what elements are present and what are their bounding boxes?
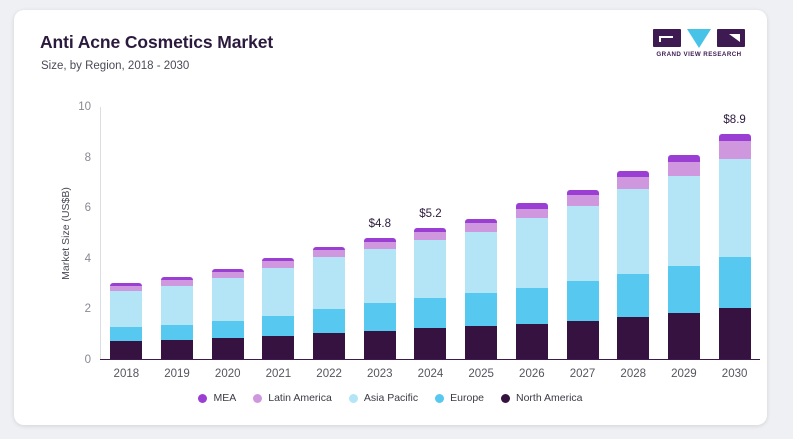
bar-segment[interactable]	[668, 162, 700, 176]
bar-group[interactable]: 2028	[615, 107, 651, 359]
bar-segment[interactable]	[516, 324, 548, 359]
bar-group[interactable]: 2021	[260, 107, 296, 359]
x-axis-tick: 2026	[519, 368, 545, 380]
bar-segment[interactable]	[668, 266, 700, 314]
x-axis-tick: 2029	[671, 368, 697, 380]
bar-segment[interactable]	[668, 313, 700, 359]
bar-group[interactable]: $8.92030	[717, 107, 753, 359]
bar-segment[interactable]	[516, 209, 548, 219]
stacked-bar[interactable]	[465, 219, 497, 359]
y-axis-tick: 10	[78, 101, 91, 113]
bar-value-label: $5.2	[419, 208, 441, 220]
bar-segment[interactable]	[313, 333, 345, 359]
legend-swatch-icon	[253, 394, 262, 403]
bar-segment[interactable]	[262, 268, 294, 316]
bar-segment[interactable]	[161, 286, 193, 325]
bar-segment[interactable]	[567, 321, 599, 359]
bar-segment[interactable]	[110, 327, 142, 341]
bar-segment[interactable]	[719, 159, 751, 256]
legend-item[interactable]: North America	[501, 392, 583, 404]
bar-segment[interactable]	[617, 177, 649, 189]
stacked-bar[interactable]	[719, 134, 751, 359]
legend-label: MEA	[213, 392, 236, 404]
page-title: Anti Acne Cosmetics Market	[40, 32, 273, 53]
bar-segment[interactable]	[617, 189, 649, 274]
legend-swatch-icon	[349, 394, 358, 403]
bar-group[interactable]: 2025	[463, 107, 499, 359]
stacked-bar[interactable]	[364, 238, 396, 359]
bar-segment[interactable]	[313, 257, 345, 309]
bar-series-container: 20182019202020212022$4.82023$5.220242025…	[101, 107, 760, 359]
legend-item[interactable]: Europe	[435, 392, 484, 404]
bar-segment[interactable]	[414, 240, 446, 299]
x-axis-tick: 2020	[215, 368, 241, 380]
bar-segment[interactable]	[567, 206, 599, 281]
legend-swatch-icon	[501, 394, 510, 403]
x-axis-tick: 2027	[570, 368, 596, 380]
legend-label: North America	[516, 392, 583, 404]
bar-segment[interactable]	[212, 278, 244, 321]
bar-segment[interactable]	[465, 232, 497, 293]
x-axis-line	[100, 359, 760, 360]
bar-group[interactable]: 2020	[210, 107, 246, 359]
stacked-bar[interactable]	[516, 203, 548, 359]
bar-group[interactable]: $5.22024	[412, 107, 448, 359]
bar-segment[interactable]	[364, 331, 396, 359]
stacked-bar[interactable]	[212, 269, 244, 359]
bar-segment[interactable]	[364, 303, 396, 330]
x-axis-tick: 2019	[164, 368, 190, 380]
bar-segment[interactable]	[110, 291, 142, 328]
logo-g-icon	[653, 29, 681, 47]
bar-segment[interactable]	[414, 328, 446, 359]
legend-item[interactable]: Asia Pacific	[349, 392, 418, 404]
legend-swatch-icon	[435, 394, 444, 403]
bar-segment[interactable]	[516, 288, 548, 324]
bar-segment[interactable]	[668, 176, 700, 266]
bar-segment[interactable]	[161, 340, 193, 359]
x-axis-tick: 2025	[468, 368, 494, 380]
x-axis-tick: 2023	[367, 368, 393, 380]
legend-label: Asia Pacific	[364, 392, 418, 404]
stacked-bar[interactable]	[567, 190, 599, 359]
logo-r-icon	[717, 29, 745, 47]
card-header: Anti Acne Cosmetics Market Size, by Regi…	[14, 10, 767, 82]
logo-wordmark: GRAND VIEW RESEARCH	[653, 51, 745, 58]
y-axis-tick: 8	[85, 152, 91, 164]
bar-segment[interactable]	[364, 242, 396, 249]
bar-group[interactable]: 2018	[108, 107, 144, 359]
x-axis-tick: 2022	[316, 368, 342, 380]
bar-segment[interactable]	[110, 341, 142, 359]
bar-segment[interactable]	[212, 321, 244, 338]
x-axis-tick: 2024	[418, 368, 444, 380]
stacked-bar[interactable]	[414, 228, 446, 359]
stacked-bar[interactable]	[313, 247, 345, 359]
bar-value-label: $4.8	[369, 218, 391, 230]
legend-label: Latin America	[268, 392, 332, 404]
bar-group[interactable]: 2022	[311, 107, 347, 359]
bar-segment[interactable]	[516, 218, 548, 288]
bar-segment[interactable]	[465, 223, 497, 232]
bar-segment[interactable]	[313, 309, 345, 333]
y-axis-tick: 0	[85, 354, 91, 366]
x-axis-tick: 2030	[722, 368, 748, 380]
legend-label: Europe	[450, 392, 484, 404]
bar-segment[interactable]	[668, 155, 700, 162]
page-subtitle: Size, by Region, 2018 - 2030	[41, 60, 189, 72]
bar-segment[interactable]	[161, 325, 193, 340]
bar-segment[interactable]	[465, 293, 497, 326]
stacked-bar[interactable]	[110, 283, 142, 359]
bar-group[interactable]: 2029	[666, 107, 702, 359]
bar-segment[interactable]	[617, 274, 649, 318]
stacked-bar[interactable]	[668, 155, 700, 359]
bar-value-label: $8.9	[723, 114, 745, 126]
logo-v-icon	[687, 29, 711, 48]
legend-item[interactable]: Latin America	[253, 392, 332, 404]
y-axis-tick: 2	[85, 303, 91, 315]
legend-item[interactable]: MEA	[198, 392, 236, 404]
chart-legend: MEALatin AmericaAsia PacificEuropeNorth …	[14, 392, 767, 404]
bar-segment[interactable]	[567, 195, 599, 206]
stacked-bar[interactable]	[617, 171, 649, 359]
bar-segment[interactable]	[719, 141, 751, 159]
grand-view-research-logo: GRAND VIEW RESEARCH	[653, 27, 745, 63]
bar-segment[interactable]	[719, 134, 751, 142]
bar-segment[interactable]	[567, 281, 599, 321]
bar-group[interactable]: $4.82023	[362, 107, 398, 359]
bar-segment[interactable]	[262, 316, 294, 336]
bar-segment[interactable]	[465, 326, 497, 359]
x-axis-tick: 2021	[266, 368, 292, 380]
bar-group[interactable]: 2027	[565, 107, 601, 359]
bar-segment[interactable]	[414, 298, 446, 328]
y-axis-tick: 4	[85, 253, 91, 265]
bar-segment[interactable]	[414, 232, 446, 240]
bar-segment[interactable]	[364, 249, 396, 303]
stacked-bar[interactable]	[262, 258, 294, 359]
bar-segment[interactable]	[262, 336, 294, 359]
chart-card: Anti Acne Cosmetics Market Size, by Regi…	[14, 10, 767, 425]
logo-marks	[653, 27, 745, 49]
bar-segment[interactable]	[212, 338, 244, 359]
bar-segment[interactable]	[313, 250, 345, 257]
bar-group[interactable]: 2019	[159, 107, 195, 359]
bar-segment[interactable]	[719, 257, 751, 309]
chart-plot-area: 0246810 20182019202020212022$4.82023$5.2…	[100, 107, 760, 360]
y-axis-tick: 6	[85, 202, 91, 214]
bar-group[interactable]: 2026	[514, 107, 550, 359]
stacked-bar[interactable]	[161, 277, 193, 359]
y-axis-title: Market Size (US$B)	[60, 107, 76, 360]
bar-segment[interactable]	[719, 308, 751, 359]
x-axis-tick: 2028	[620, 368, 646, 380]
x-axis-tick: 2018	[114, 368, 140, 380]
legend-swatch-icon	[198, 394, 207, 403]
bar-segment[interactable]	[617, 317, 649, 359]
